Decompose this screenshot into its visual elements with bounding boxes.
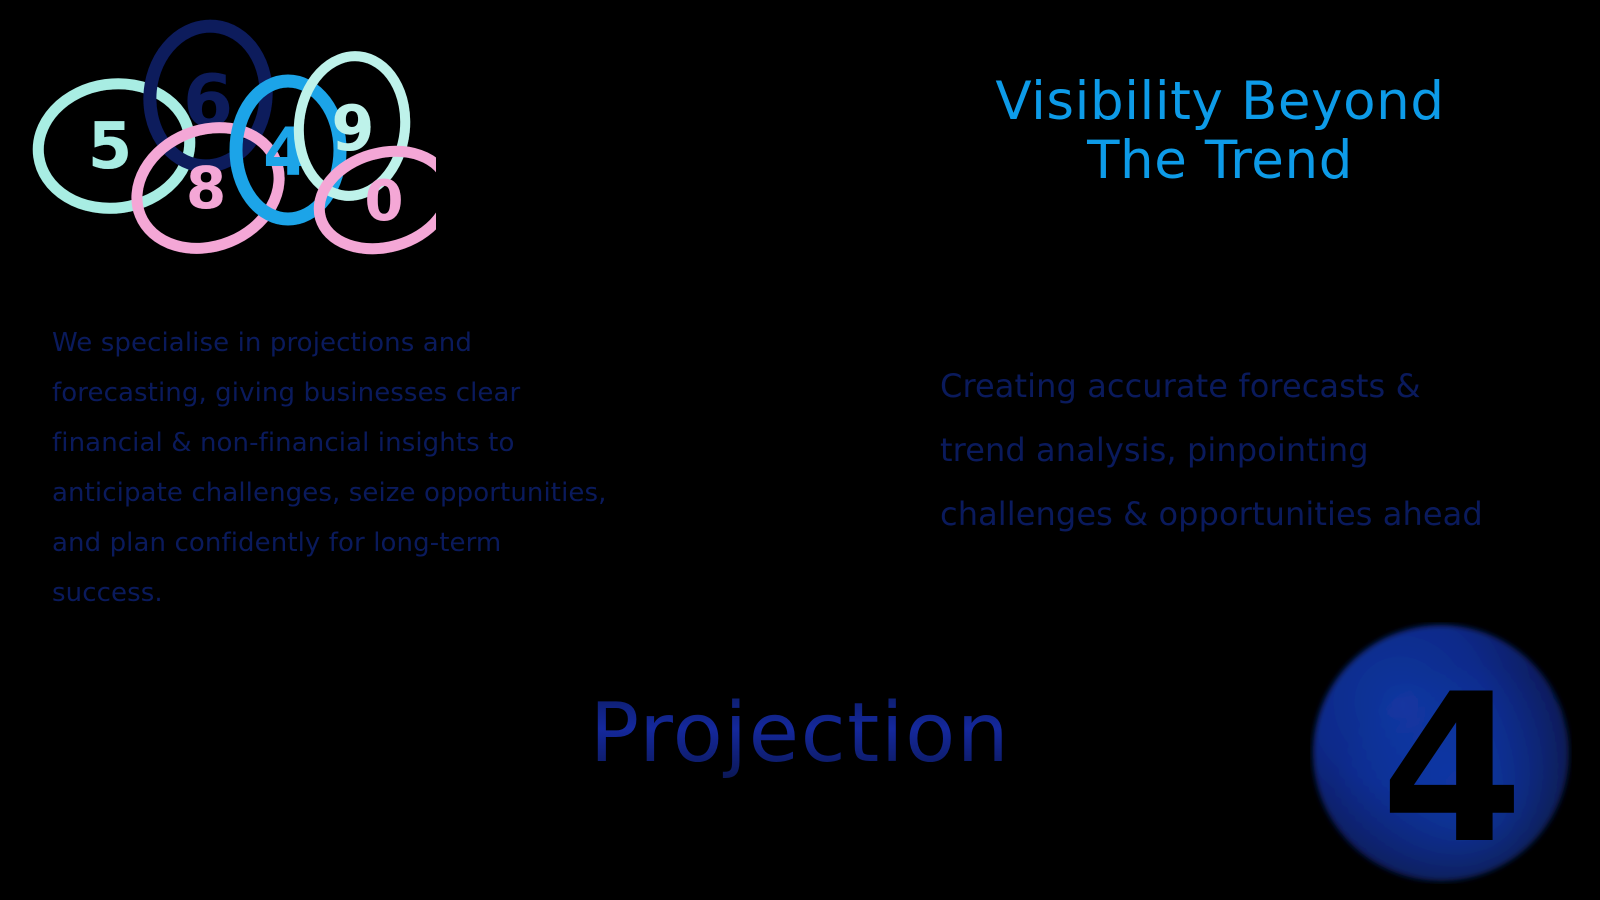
ring-digit-0: 0 xyxy=(365,169,404,234)
step-number-badge: 4 xyxy=(1310,622,1572,884)
badge-number-text: 4 xyxy=(1381,651,1524,884)
number-rings-logo: 568490 xyxy=(26,10,436,260)
description-paragraph-left: We specialise in projections and forecas… xyxy=(52,318,612,618)
wordmark-projection: Projection xyxy=(500,686,1100,781)
headline: Visibility Beyond The Trend xyxy=(905,72,1535,191)
badge-svg: 4 xyxy=(1310,622,1572,884)
headline-line-2: The Trend xyxy=(905,131,1535,190)
description-paragraph-right: Creating accurate forecasts & trend anal… xyxy=(940,354,1485,546)
ring-digit-8: 8 xyxy=(186,154,226,222)
slide-canvas: 568490 Visibility Beyond The Trend We sp… xyxy=(0,0,1600,900)
ring-digit-5: 5 xyxy=(88,110,133,184)
logo-svg: 568490 xyxy=(26,10,436,260)
headline-line-1: Visibility Beyond xyxy=(905,72,1535,131)
